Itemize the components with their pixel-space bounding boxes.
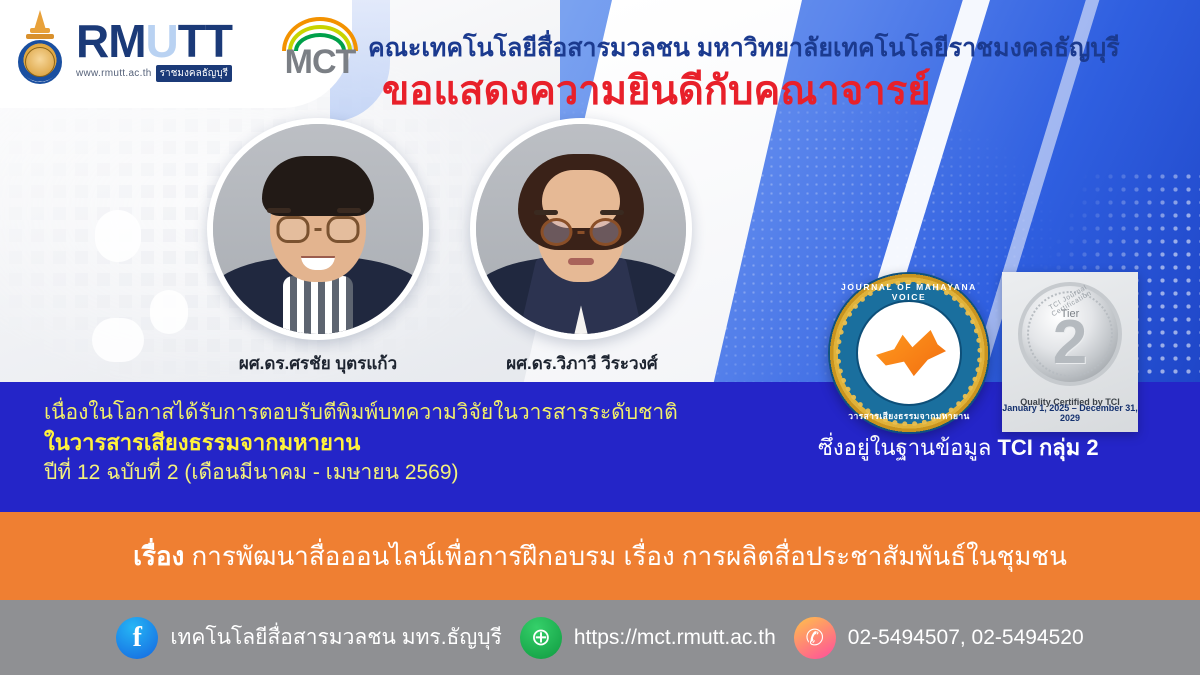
decor-blob-3: [92, 318, 144, 362]
decor-blob-1: [95, 210, 141, 262]
footer-facebook[interactable]: f เทคโนโลยีสื่อสารมวลชน มทร.ธัญบุรี: [116, 617, 502, 659]
rmutt-word-part1: RM: [76, 15, 146, 67]
rmutt-emblem-icon: [14, 10, 66, 88]
tci-database-note: ซึ่งอยู่ในฐานข้อมูล TCI กลุ่ม 2: [818, 430, 1099, 465]
tci-tier-badge: TCI Journal Certification Tier 2 Quality…: [1002, 272, 1138, 432]
mct-logo: MCT: [274, 13, 366, 85]
congratulations-title: ขอแสดงความยินดีกับคณาจารย์: [382, 58, 931, 122]
orange-title-band: เรื่อง การพัฒนาสื่อออนไลน์เพื่อการฝึกอบร…: [0, 512, 1200, 600]
logo-group: RMUTT www.rmutt.ac.th ราชมงคลธัญบุรี MCT: [14, 10, 366, 88]
decor-blob-2: [150, 290, 188, 334]
rmutt-logo: RMUTT www.rmutt.ac.th ราชมงคลธัญบุรี: [76, 18, 258, 80]
crane-bird-icon: [876, 330, 946, 378]
rmutt-url: www.rmutt.ac.th: [76, 68, 152, 79]
portrait-photo-2: [470, 118, 692, 340]
blue-band-line2: ในวารสารเสียงธรรมจากมหายาน: [44, 425, 360, 460]
tci-tier-number: 2: [1022, 312, 1118, 374]
mct-logo-text: MCT: [274, 43, 366, 82]
tci-period-line: January 1, 2025 – December 31, 2029: [1002, 403, 1138, 423]
journal-seal-logo: JOURNAL OF MAHAYANA VOICE วารสารเสียงธรร…: [828, 272, 990, 434]
tci-note-bold: TCI กลุ่ม 2: [997, 435, 1098, 460]
seal-inner-circle: [856, 300, 962, 406]
rmutt-word-part2: U: [146, 15, 178, 67]
facebook-icon: f: [116, 617, 158, 659]
facebook-page-name: เทคโนโลยีสื่อสารมวลชน มทร.ธัญบุรี: [170, 621, 502, 654]
article-label: เรื่อง: [133, 541, 184, 571]
contact-footer: f เทคโนโลยีสื่อสารมวลชน มทร.ธัญบุรี ⊕ ht…: [0, 600, 1200, 675]
footer-phone[interactable]: ✆ 02-5494507, 02-5494520: [794, 617, 1084, 659]
portrait-caption-2: ผศ.ดร.วิภาวี วีระวงศ์: [432, 350, 732, 377]
article-title-row: เรื่อง การพัฒนาสื่อออนไลน์เพื่อการฝึกอบร…: [0, 536, 1200, 577]
article-title: การพัฒนาสื่อออนไลน์เพื่อการฝึกอบรม เรื่อ…: [184, 541, 1067, 571]
phone-numbers: 02-5494507, 02-5494520: [848, 626, 1084, 650]
tci-note-prefix: ซึ่งอยู่ในฐานข้อมูล: [818, 435, 997, 460]
congratulation-banner: RMUTT www.rmutt.ac.th ราชมงคลธัญบุรี MCT…: [0, 0, 1200, 675]
rmutt-word-part3: TT: [178, 15, 232, 67]
portrait-caption-1: ผศ.ดร.ศรชัย บุตรแก้ว: [168, 350, 468, 377]
phone-icon: ✆: [794, 617, 836, 659]
tci-silver-coin-icon: TCI Journal Certification Tier 2: [1018, 282, 1122, 386]
website-url: https://mct.rmutt.ac.th: [574, 626, 776, 650]
seal-top-text: JOURNAL OF MAHAYANA VOICE: [828, 282, 990, 302]
portrait-photo-1: [207, 118, 429, 340]
rmutt-thai-label: ราชมงคลธัญบุรี: [156, 65, 232, 82]
blue-band-line3: ปีที่ 12 ฉบับที่ 2 (เดือนมีนาคม - เมษายน…: [44, 456, 459, 489]
globe-icon: ⊕: [520, 617, 562, 659]
footer-website[interactable]: ⊕ https://mct.rmutt.ac.th: [520, 617, 776, 659]
seal-bottom-text: วารสารเสียงธรรมจากมหายาน: [828, 409, 990, 423]
